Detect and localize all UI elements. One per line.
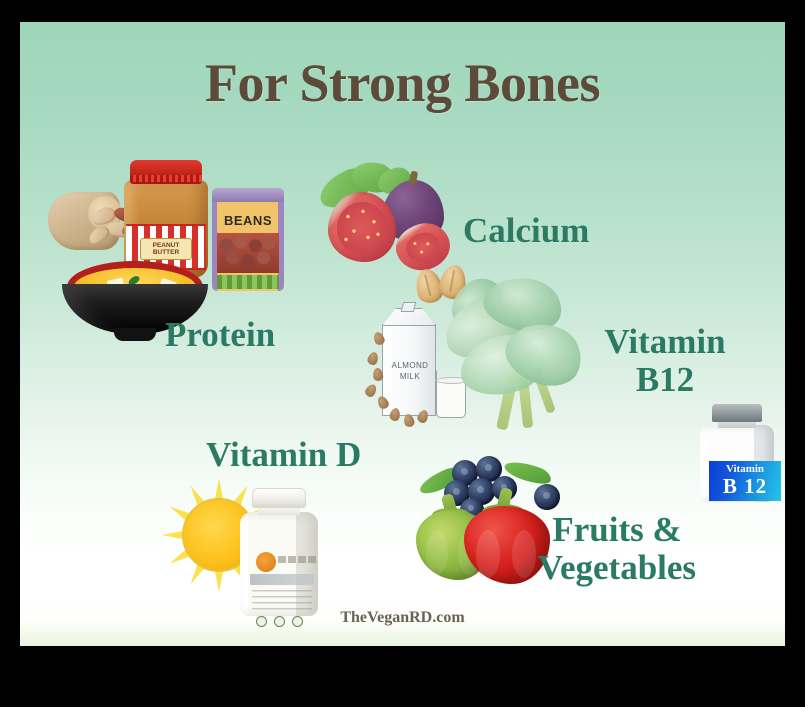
b12-label-main-text: B 12: [723, 475, 767, 497]
bowl-foot: [114, 328, 156, 341]
peanut-butter-label-text: PEANUT BUTTER: [140, 238, 192, 260]
b12-bottle-label: Vitamin B 12: [709, 461, 781, 501]
can-rim: [212, 188, 284, 202]
can-body: BEANS: [212, 199, 284, 291]
blueberry-icon: [534, 484, 560, 510]
milk-carton-label-text: ALMOND MILK: [383, 361, 437, 383]
attribution-text: TheVeganRD.com: [20, 609, 785, 627]
vitamin-d-bottle-icon: [236, 488, 320, 616]
bottle-cap: [712, 404, 762, 422]
bottle-seal-badge: [256, 552, 276, 572]
protein-foods-illustration: PEANUT BUTTER BEANS: [40, 142, 255, 337]
supplement-bottle-body: [240, 512, 318, 616]
bottle-brand-line: [278, 556, 318, 563]
poster-black-frame: For Strong Bones PEANUT BUTTER BEANS: [0, 0, 805, 707]
almond-icon: [366, 351, 380, 366]
b12-supplement-illustration: Vitamin B 12: [692, 404, 782, 502]
supplement-bottle-body: Vitamin B 12: [700, 425, 774, 502]
carton-spout: [401, 302, 416, 312]
beans-graphic: [217, 233, 279, 273]
beans-label-text: BEANS: [217, 211, 279, 229]
poster-canvas: For Strong Bones PEANUT BUTTER BEANS: [20, 22, 785, 646]
bottle-cap: [252, 488, 306, 508]
almond-icon: [363, 382, 378, 398]
label-vitamin-b12: Vitamin B12: [580, 323, 750, 399]
fig-seeds: [337, 202, 387, 254]
beans-can-icon: BEANS: [212, 188, 284, 298]
bottle-title-band: [250, 574, 314, 585]
label-vitamin-d: Vitamin D: [206, 436, 361, 474]
page-title: For Strong Bones: [20, 52, 785, 114]
almond-milk-carton-icon: ALMOND MILK: [382, 324, 436, 416]
peanut-butter-jar-icon: PEANUT BUTTER: [124, 160, 208, 278]
halved-fig-icon: [328, 192, 396, 262]
jar-lid: [130, 160, 202, 184]
label-calcium: Calcium: [463, 212, 589, 250]
label-protein: Protein: [165, 316, 275, 354]
vitamin-d-illustration: [158, 474, 338, 619]
leafy-greens-illustration: [440, 274, 590, 436]
can-stripe: [217, 275, 279, 289]
label-fruits-vegetables: Fruits & Vegetables: [512, 511, 722, 587]
